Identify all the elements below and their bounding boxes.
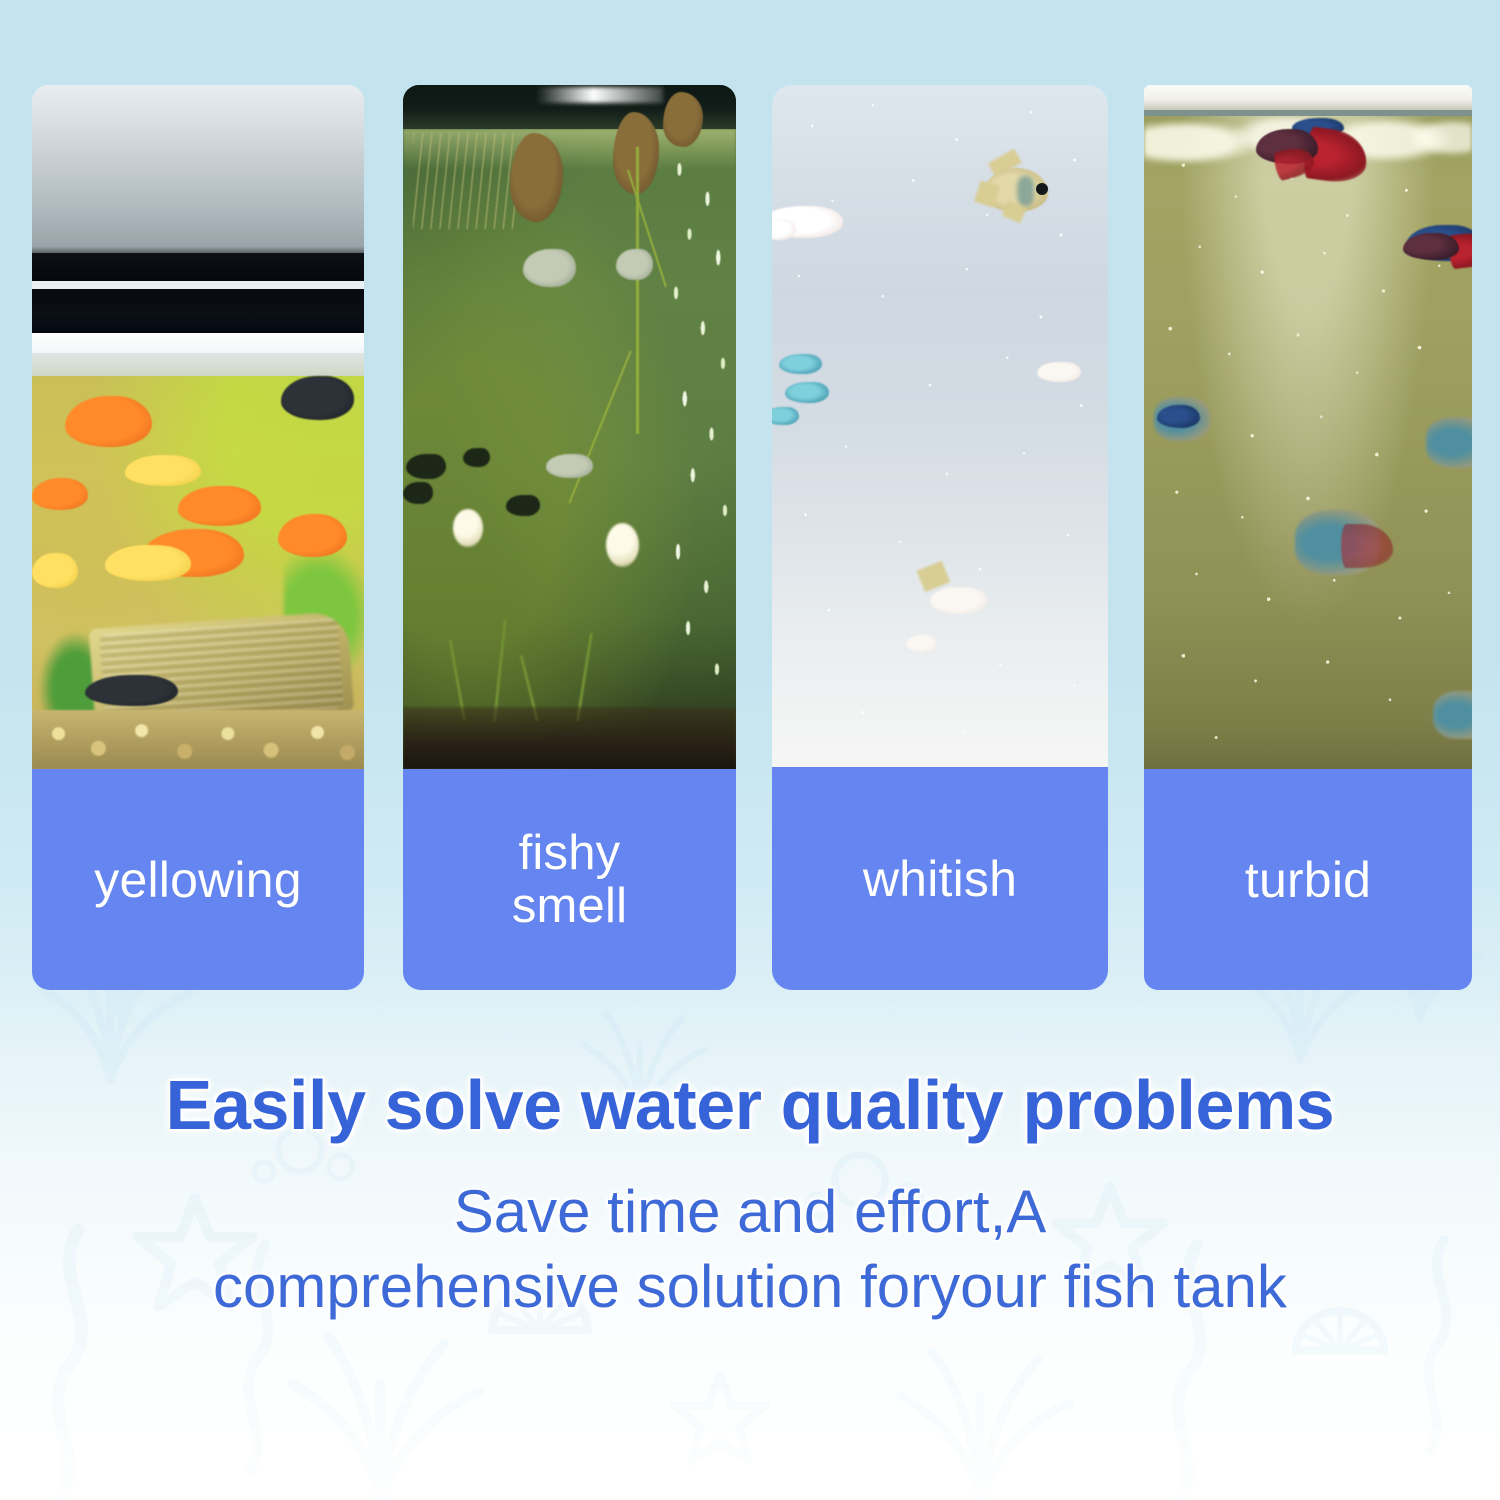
- panel-label-turbid: turbid: [1239, 853, 1377, 907]
- panel-label-whitish: whitish: [857, 852, 1023, 906]
- label-box-fishy-smell[interactable]: fishy smell: [403, 769, 736, 990]
- aquarium-photo-yellowing: [32, 85, 364, 769]
- subheadline-line-2: comprehensive solution foryour fish tank: [28, 1249, 1472, 1325]
- panel-label-line-1: fishy: [519, 826, 621, 880]
- aquarium-photo-turbid: [1144, 85, 1472, 769]
- panel-label-fishy-smell: fishy smell: [506, 827, 633, 933]
- aquarium-photo-fishy-smell: [403, 85, 736, 769]
- subheadline-line-1: Save time and effort,A: [28, 1174, 1472, 1250]
- subheadline: Save time and effort,A comprehensive sol…: [0, 1174, 1500, 1325]
- label-box-yellowing[interactable]: yellowing: [32, 769, 364, 990]
- panel-label-yellowing: yellowing: [88, 853, 307, 907]
- label-box-whitish[interactable]: whitish: [772, 767, 1108, 990]
- problem-panels-row: yellowing: [0, 0, 1500, 1000]
- marketing-copy-block: Easily solve water quality problems Save…: [0, 1065, 1500, 1325]
- aquarium-photo-whitish: [772, 85, 1108, 767]
- panel-label-line-2: smell: [512, 879, 627, 933]
- label-box-turbid[interactable]: turbid: [1144, 769, 1472, 990]
- headline: Easily solve water quality problems: [0, 1065, 1500, 1146]
